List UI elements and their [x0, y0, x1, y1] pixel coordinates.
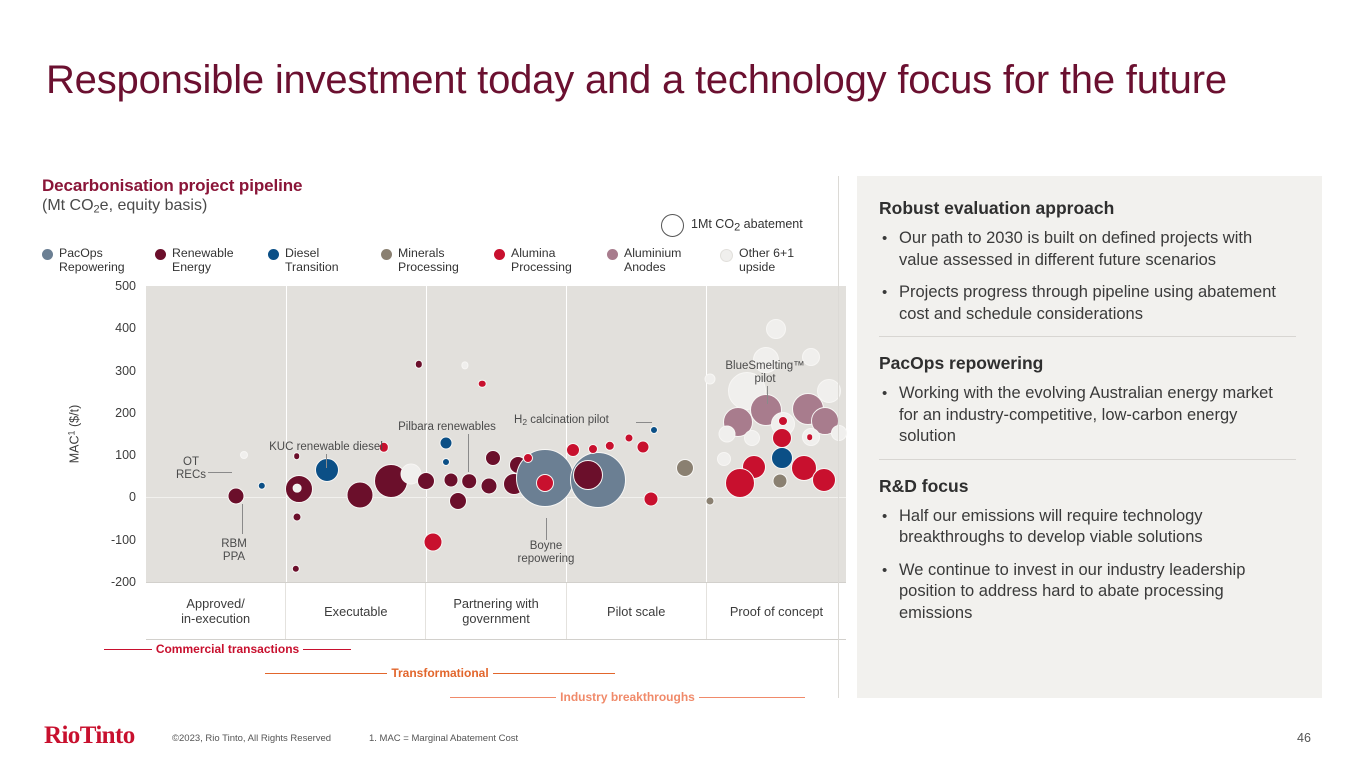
annotation-leader-line	[767, 386, 768, 404]
legend-swatch-icon	[268, 249, 279, 260]
chart-bubble	[778, 416, 788, 426]
chart-bubble	[573, 460, 603, 490]
band-label-row: Commercial transactions	[104, 642, 351, 656]
chart-bubble	[676, 459, 694, 477]
chart-bubble	[481, 477, 498, 494]
column-separator	[566, 286, 567, 582]
band-rule	[699, 697, 805, 698]
plot-area: KUC renewable dieselOTRECsRBMPPAPilbara …	[146, 286, 846, 582]
chart-bubble	[802, 348, 820, 366]
chart-bubble	[424, 533, 443, 552]
legend-swatch-icon	[381, 249, 392, 260]
chart-bubble	[292, 512, 301, 521]
size-legend-post: abatement	[740, 217, 803, 231]
legend-label: Other 6+1upside	[739, 246, 794, 274]
chart-bubble	[766, 319, 786, 339]
page-title: Responsible investment today and a techn…	[46, 58, 1227, 103]
legend-swatch-icon	[42, 249, 53, 260]
chart-bubble	[605, 441, 615, 451]
legend-label: DieselTransition	[285, 246, 339, 274]
legend-label: AluminaProcessing	[511, 246, 572, 274]
chart-bubble	[240, 451, 248, 459]
band-label: Commercial transactions	[152, 642, 303, 656]
chart-annotation-label: H2 calcination pilot	[514, 414, 609, 429]
legend-item: DieselTransition	[268, 246, 381, 274]
chart-bubble	[439, 436, 452, 449]
chart-bubble	[449, 492, 467, 510]
chart-bubble	[772, 428, 792, 448]
band-rule	[493, 673, 615, 674]
footnote-text: 1. MAC = Marginal Abatement Cost	[369, 733, 518, 744]
panel-section-heading: Robust evaluation approach	[879, 198, 1296, 219]
chart-bubble	[744, 430, 760, 446]
panel-bullet-item: Half our emissions will require technolo…	[879, 506, 1296, 549]
chart-annotation-label: KUC renewable diesel	[269, 441, 383, 454]
legend-label: AluminiumAnodes	[624, 246, 681, 274]
panel-bullet-list: Our path to 2030 is built on defined pro…	[879, 228, 1296, 325]
annotation-leader-line	[208, 472, 232, 473]
chart-bubble	[257, 482, 265, 490]
y-axis-tick-label: -200	[111, 575, 136, 589]
copyright-text: ©2023, Rio Tinto, All Rights Reserved	[172, 733, 331, 744]
legend-swatch-icon	[494, 249, 505, 260]
band-label: Transformational	[387, 666, 492, 680]
chart-bubble	[717, 452, 731, 466]
band-label-row: Industry breakthroughs	[450, 690, 805, 704]
y-axis-tick-label: 300	[115, 364, 136, 378]
chart-bubble	[650, 426, 658, 434]
chart-bubble	[443, 472, 458, 487]
y-axis-tick-label: 500	[115, 279, 136, 293]
column-separator	[286, 286, 287, 582]
chart-bubble	[812, 468, 836, 492]
chart-bubble	[462, 474, 478, 490]
legend-swatch-icon	[155, 249, 166, 260]
riotinto-logo: RioTinto	[44, 722, 135, 750]
legend-item: PacOpsRepowering	[42, 246, 155, 274]
legend-item: MineralsProcessing	[381, 246, 494, 274]
panel-section-divider	[879, 459, 1296, 460]
legend-item: AluminiumAnodes	[607, 246, 720, 274]
chart-subtitle: (Mt CO2e, equity basis)	[42, 197, 832, 215]
x-axis-category: Approved/in-execution	[146, 583, 286, 639]
slide-root: Responsible investment today and a techn…	[0, 0, 1365, 768]
band-label-row: Transformational	[265, 666, 615, 680]
chart-bubble	[536, 474, 554, 492]
chart-bubble	[588, 444, 598, 454]
legend-swatch-icon	[607, 249, 618, 260]
y-axis-tick-label: -100	[111, 533, 136, 547]
chart-bubble	[485, 450, 501, 466]
panel-bullet-item: We continue to invest in our industry le…	[879, 560, 1296, 625]
size-legend-label: 1Mt CO2 abatement	[691, 217, 803, 233]
chart-annotation-label: OTRECs	[176, 456, 206, 482]
chart-bubble	[772, 474, 787, 489]
legend-label: MineralsProcessing	[398, 246, 459, 274]
size-legend-pre: 1Mt CO	[691, 217, 734, 231]
panel-bullet-item: Working with the evolving Australian ene…	[879, 383, 1296, 448]
chart-bubble	[806, 433, 814, 441]
chart-bubble	[227, 487, 244, 504]
x-axis-category: Proof of concept	[707, 583, 846, 639]
chart-bubble	[346, 481, 373, 508]
size-reference-circle-icon	[661, 214, 684, 237]
x-axis-category-row: Approved/in-executionExecutablePartnerin…	[146, 582, 846, 640]
chart-bubble	[523, 453, 533, 463]
annotation-leader-line	[326, 454, 327, 468]
chart-bubble	[415, 360, 423, 368]
chart-annotation-label: Boynerepowering	[518, 540, 575, 566]
annotation-leader-line	[242, 504, 243, 534]
panel-section-heading: R&D focus	[879, 476, 1296, 497]
panel-section-divider	[879, 336, 1296, 337]
column-separator	[706, 286, 707, 582]
chart-annotation-label: BlueSmelting™pilot	[725, 360, 804, 386]
chart-bubble	[704, 374, 715, 385]
panel-bullet-list: Working with the evolving Australian ene…	[879, 383, 1296, 448]
chart-bubble	[644, 492, 659, 507]
size-legend: 1Mt CO2 abatement	[661, 214, 803, 237]
page-number: 46	[1297, 731, 1311, 745]
chart-annotation-label: RBMPPA	[221, 538, 247, 564]
legend-label: PacOpsRepowering	[59, 246, 125, 274]
legend-swatch-icon	[720, 249, 733, 262]
chart-bubble	[478, 379, 487, 388]
panel-bullet-list: Half our emissions will require technolo…	[879, 506, 1296, 625]
chart-subtitle-pre: (Mt CO	[42, 197, 94, 214]
chart-bubble	[637, 441, 650, 454]
band-rule	[450, 697, 556, 698]
chart-subtitle-post: e, equity basis)	[100, 197, 208, 214]
annotation-leader-line	[546, 518, 547, 540]
panel-section-heading: PacOps repowering	[879, 353, 1296, 374]
y-axis-title: MAC1 ($/t)	[66, 405, 81, 464]
chart-bubble	[292, 564, 300, 572]
chart-bubble	[705, 496, 714, 505]
band-rule	[104, 649, 152, 650]
chart-bubble	[719, 426, 736, 443]
chart-legend: PacOpsRepoweringRenewableEnergyDieselTra…	[42, 246, 842, 274]
legend-item: AluminaProcessing	[494, 246, 607, 274]
legend-item: Other 6+1upside	[720, 246, 833, 274]
y-axis-tick-label: 400	[115, 321, 136, 335]
band-rule	[303, 649, 351, 650]
y-axis-tick-label: 0	[129, 490, 136, 504]
chart-bubble	[771, 447, 793, 469]
y-axis-tick-label: 100	[115, 448, 136, 462]
x-axis-category: Executable	[286, 583, 426, 639]
chart-bubble	[566, 443, 580, 457]
chart-block: Decarbonisation project pipeline (Mt CO2…	[42, 176, 832, 706]
chart-bubble	[625, 434, 634, 443]
panel-divider	[838, 176, 839, 698]
x-axis-category: Partnering withgovernment	[426, 583, 566, 639]
y-axis-tick-label: 200	[115, 406, 136, 420]
annotation-leader-line	[636, 422, 652, 423]
right-panel: Robust evaluation approachOur path to 20…	[857, 176, 1322, 698]
chart-bubble	[417, 472, 435, 490]
chart-bubble	[442, 458, 450, 466]
band-rule	[265, 673, 387, 674]
chart-title: Decarbonisation project pipeline	[42, 176, 832, 196]
chart-bubble	[725, 468, 755, 498]
y-axis-labels: 5004003002001000-100-200	[100, 286, 142, 582]
chart-bubble	[293, 483, 302, 492]
plot-wrap: 5004003002001000-100-200 MAC1 ($/t) KUC …	[100, 286, 846, 582]
legend-label: RenewableEnergy	[172, 246, 234, 274]
panel-bullet-item: Our path to 2030 is built on defined pro…	[879, 228, 1296, 271]
annotation-leader-line	[468, 434, 469, 472]
panel-bullet-item: Projects progress through pipeline using…	[879, 282, 1296, 325]
x-axis-category: Pilot scale	[567, 583, 707, 639]
band-label: Industry breakthroughs	[556, 690, 699, 704]
legend-item: RenewableEnergy	[155, 246, 268, 274]
chart-bubble	[461, 362, 468, 369]
chart-annotation-label: Pilbara renewables	[398, 421, 496, 434]
chart-bubble	[831, 425, 847, 441]
